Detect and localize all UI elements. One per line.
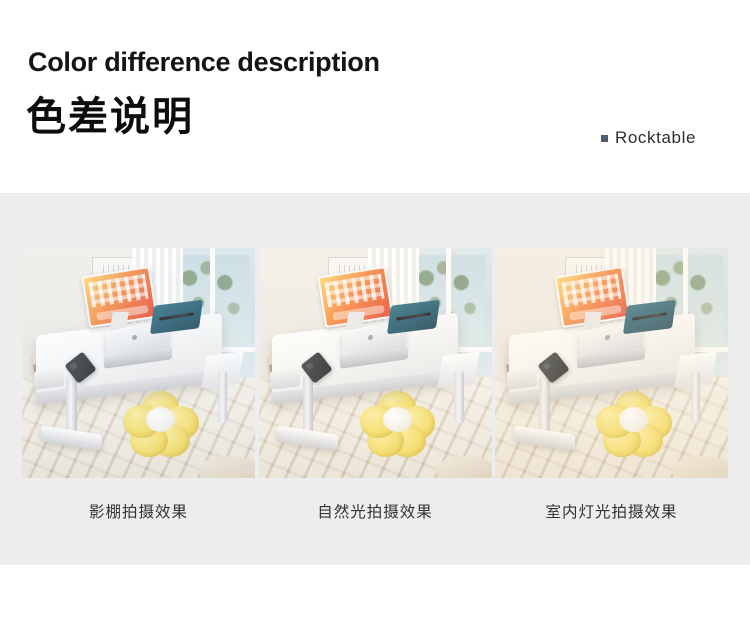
photo-card-list: 影棚拍摄效果 <box>22 248 728 522</box>
room-scene <box>495 248 728 478</box>
page-title-english: Color difference description <box>28 47 380 78</box>
room-scene <box>22 248 255 478</box>
phone-camera <box>305 362 313 370</box>
desk-leg-column <box>303 377 313 437</box>
desk-leg-column <box>66 377 76 437</box>
photo-caption: 影棚拍摄效果 <box>22 500 255 522</box>
square-bullet-icon <box>601 135 608 142</box>
phone-camera <box>542 362 550 370</box>
indoor-light-photo[interactable] <box>495 248 728 478</box>
natural-light-photo[interactable] <box>259 248 492 478</box>
header: Color difference description 色差说明 Rockta… <box>0 0 750 193</box>
photo-caption: 自然光拍摄效果 <box>259 500 492 522</box>
tablet-app-icons <box>561 274 622 308</box>
desk-leg-back <box>454 372 463 423</box>
photo-card: 自然光拍摄效果 <box>259 248 492 522</box>
comparison-panel: 影棚拍摄效果 <box>0 193 750 565</box>
photo-card: 影棚拍摄效果 <box>22 248 255 522</box>
desk-leg-back <box>691 372 700 423</box>
desk-leg-column <box>539 377 549 437</box>
brand-name: Rocktable <box>615 128 696 148</box>
desk-leg-back <box>218 372 227 423</box>
phone-camera <box>69 362 77 370</box>
tablet-app-icons <box>88 274 149 308</box>
room-scene <box>259 248 492 478</box>
studio-lighting-photo[interactable] <box>22 248 255 478</box>
photo-caption: 室内灯光拍摄效果 <box>495 500 728 522</box>
photo-card: 室内灯光拍摄效果 <box>495 248 728 522</box>
page-title-chinese: 色差说明 <box>26 84 194 142</box>
tablet-app-icons <box>325 274 386 308</box>
brand-mark: Rocktable <box>601 128 696 148</box>
